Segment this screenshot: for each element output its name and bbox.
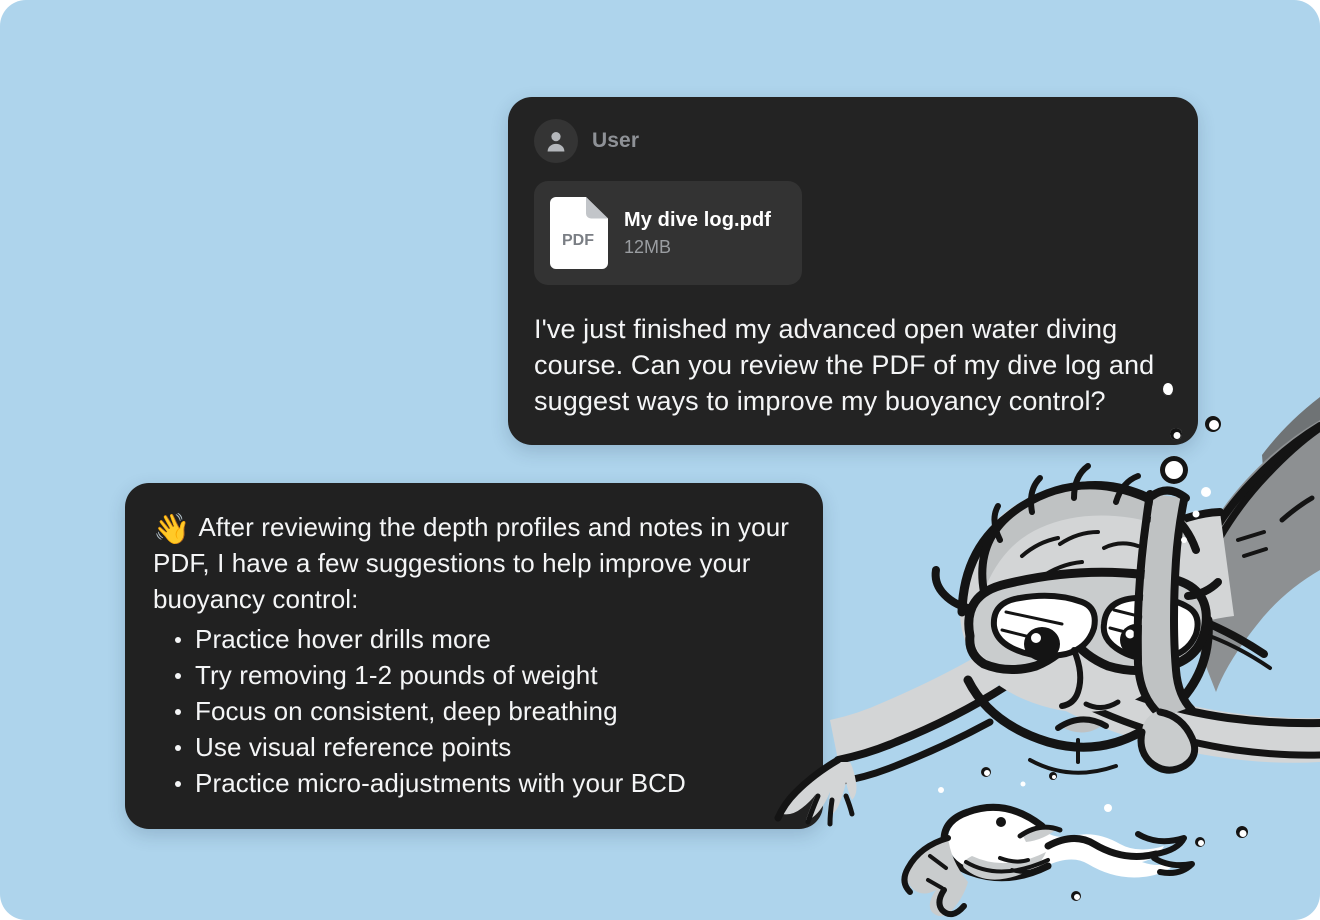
list-item: Try removing 1-2 pounds of weight [153, 657, 795, 693]
attachment-filename: My dive log.pdf [624, 209, 771, 232]
list-item: Practice hover drills more [153, 621, 795, 657]
person-avatar-icon [534, 119, 578, 163]
suggestion-list: Practice hover drills more Try removing … [153, 621, 795, 801]
assistant-message-card: 👋After reviewing the depth profiles and … [125, 483, 823, 829]
attachment-meta: My dive log.pdf 12MB [624, 209, 771, 258]
assistant-intro-text: 👋After reviewing the depth profiles and … [153, 509, 795, 617]
user-message-text: I've just finished my advanced open wate… [534, 311, 1172, 419]
list-item: Practice micro-adjustments with your BCD [153, 765, 795, 801]
user-message-card: User PDF My dive log.pdf 12MB I've just … [508, 97, 1198, 445]
pdf-file-icon: PDF [550, 197, 608, 269]
user-name-label: User [592, 129, 639, 153]
attachment-filesize: 12MB [624, 237, 771, 258]
scene-root: User PDF My dive log.pdf 12MB I've just … [0, 0, 1320, 920]
list-item: Use visual reference points [153, 729, 795, 765]
fish-illustration [904, 807, 1192, 916]
user-message-header: User [534, 119, 1172, 163]
assistant-intro-label: After reviewing the depth profiles and n… [153, 512, 789, 614]
svg-text:PDF: PDF [562, 232, 594, 249]
waving-hand-icon: 👋 [153, 513, 190, 546]
pdf-attachment-chip[interactable]: PDF My dive log.pdf 12MB [534, 181, 802, 285]
snorkeler-figure [778, 397, 1320, 824]
list-item: Focus on consistent, deep breathing [153, 693, 795, 729]
air-bubbles [938, 383, 1248, 901]
